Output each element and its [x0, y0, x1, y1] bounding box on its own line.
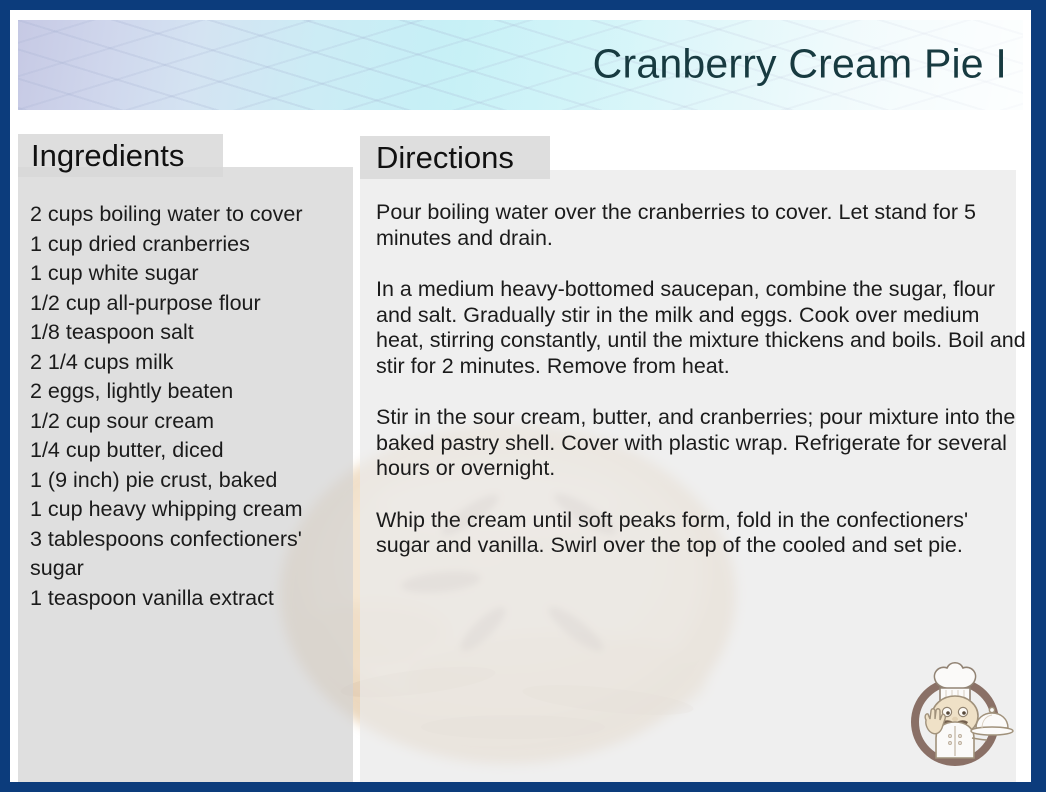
list-item: 2 eggs, lightly beaten [30, 377, 348, 407]
ingredients-list: 2 cups boiling water to cover 1 cup drie… [30, 200, 348, 613]
recipe-title: Cranberry Cream Pie I [593, 41, 1007, 88]
border-top [0, 0, 1046, 10]
ingredients-heading-label: Ingredients [31, 140, 184, 171]
border-right [1031, 0, 1046, 792]
list-item: 3 tablespoons confectioners' sugar [30, 525, 348, 584]
list-item: 1/2 cup all-purpose flour [30, 289, 348, 319]
list-item: 1/8 teaspoon salt [30, 318, 348, 348]
direction-paragraph: In a medium heavy-bottomed saucepan, com… [376, 277, 1026, 379]
list-item: 1/2 cup sour cream [30, 407, 348, 437]
list-item: 1/4 cup butter, diced [30, 436, 348, 466]
chef-mascot-logo [896, 652, 1014, 770]
list-item: 2 cups boiling water to cover [30, 200, 348, 230]
border-left [0, 0, 10, 792]
direction-paragraph: Whip the cream until soft peaks form, fo… [376, 508, 1026, 559]
recipe-page: Cranberry Cream Pie I [10, 10, 1031, 782]
direction-paragraph: Pour boiling water over the cranberries … [376, 200, 1026, 251]
list-item: 1 (9 inch) pie crust, baked [30, 466, 348, 496]
directions-body: Pour boiling water over the cranberries … [376, 200, 1026, 559]
list-item: 1 cup white sugar [30, 259, 348, 289]
directions-heading-tab: Directions [360, 136, 550, 179]
border-bottom [0, 782, 1046, 792]
direction-paragraph: Stir in the sour cream, butter, and cran… [376, 405, 1026, 482]
ingredients-heading-tab: Ingredients [18, 134, 223, 177]
list-item: 2 1/4 cups milk [30, 348, 348, 378]
list-item: 1 teaspoon vanilla extract [30, 584, 348, 614]
recipe-card: Cranberry Cream Pie I [0, 0, 1046, 792]
list-item: 1 cup dried cranberries [30, 230, 348, 260]
directions-heading-label: Directions [376, 142, 514, 173]
header-banner: Cranberry Cream Pie I [18, 20, 1023, 110]
list-item: 1 cup heavy whipping cream [30, 495, 348, 525]
